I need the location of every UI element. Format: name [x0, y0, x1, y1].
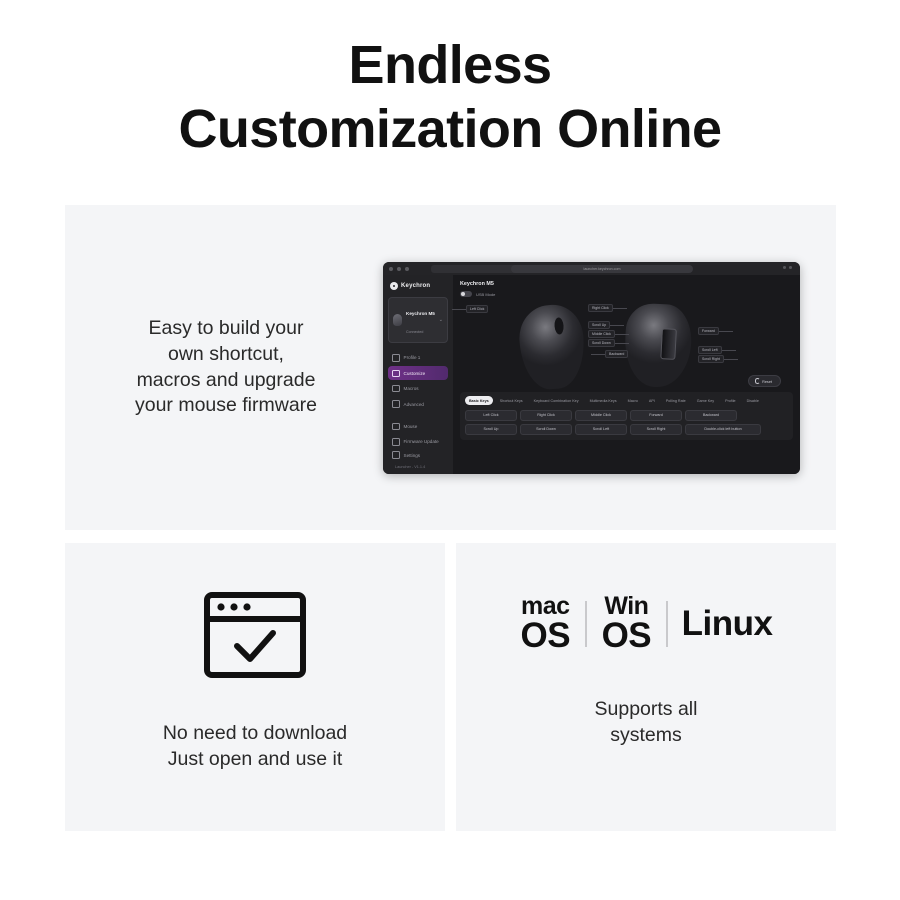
feature-card-customization: Easy to build your own shortcut, macros …: [65, 205, 836, 530]
tab-polling-rate[interactable]: Polling Rate: [662, 396, 690, 405]
sidebar-item-advanced[interactable]: Advanced: [388, 397, 448, 411]
launcher-body: Keychron Keychron M5 Connected ⌄ Profile…: [383, 275, 800, 474]
os-logo-winos-bottom: OS: [602, 619, 652, 652]
sidebar-item-settings[interactable]: Settings: [388, 448, 448, 462]
tab-api[interactable]: API: [645, 396, 659, 405]
device-selector[interactable]: Keychron M5 Connected ⌄: [388, 297, 448, 343]
customize-icon: [392, 370, 400, 378]
sidebar-item-label: Customize: [404, 371, 426, 376]
feature-card-row-bottom: No need to download Just open and use it…: [65, 543, 836, 831]
sidebar-footer: Settings Launcher - V1.1.4: [388, 448, 448, 469]
key-scroll-down[interactable]: Scroll Down: [520, 424, 572, 435]
feature-card-supports-all-systems: mac OS Win OS Linux Supports all systems: [456, 543, 836, 831]
window-minimize-icon[interactable]: [397, 267, 401, 271]
mouse-label-middle-click[interactable]: Middle Click: [588, 330, 615, 338]
customization-copy: Easy to build your own shortcut, macros …: [65, 316, 385, 419]
tab-multimedia-keys[interactable]: Multimedia Keys: [586, 396, 621, 405]
key-scroll-right[interactable]: Scroll Right: [630, 424, 682, 435]
key-backward[interactable]: Backward: [685, 410, 737, 421]
sidebar-item-mouse[interactable]: Mouse: [388, 420, 448, 434]
sidebar-item-profile[interactable]: Profile 1: [388, 351, 448, 365]
mouse-label-backward[interactable]: Backward: [605, 350, 628, 358]
key-middle-click[interactable]: Middle Click: [575, 410, 627, 421]
window-close-icon[interactable]: [389, 267, 393, 271]
browser-url-bar[interactable]: launcher.keychron.com: [511, 265, 693, 273]
sidebar-divider-gap: [388, 413, 448, 420]
supports-all-systems-caption: Supports all systems: [595, 696, 698, 748]
connection-toggle[interactable]: [460, 291, 472, 297]
reset-icon: [755, 378, 761, 384]
device-status: Connected: [406, 330, 423, 334]
os-logo-winos: Win OS: [587, 595, 667, 652]
os-logo-row: mac OS Win OS Linux: [506, 595, 787, 652]
tab-keyboard-combination-key[interactable]: Keyboard Combination Key: [530, 396, 583, 405]
page-title-line-1: Endless: [0, 34, 900, 98]
tab-disable[interactable]: Disable: [743, 396, 763, 405]
launcher-sidebar: Keychron Keychron M5 Connected ⌄ Profile…: [383, 275, 453, 474]
gear-icon: [392, 451, 400, 459]
brand-name: Keychron: [401, 283, 430, 289]
profile-icon: [392, 354, 400, 362]
sidebar-item-macros[interactable]: Macros: [388, 382, 448, 396]
sidebar-item-firmware-update[interactable]: Firmware Update: [388, 435, 448, 449]
chevron-down-icon[interactable]: ⌄: [439, 317, 443, 323]
feature-card-no-download: No need to download Just open and use it: [65, 543, 445, 831]
key-assignment-panel: Basic Keys Shortcut Keys Keyboard Combin…: [460, 392, 793, 440]
os-logo-linux: Linux: [668, 604, 787, 644]
key-right-click[interactable]: Right Click: [520, 410, 572, 421]
mouse-label-scroll-right[interactable]: Scroll Right: [698, 355, 724, 363]
mouse-render-side: [623, 303, 693, 389]
sidebar-item-label: Settings: [404, 453, 421, 458]
key-scroll-up[interactable]: Scroll Up: [465, 424, 517, 435]
browser-window-check-icon: [203, 591, 307, 684]
mouse-label-right-click[interactable]: Right Click: [588, 304, 613, 312]
tab-profile[interactable]: Profile: [721, 396, 739, 405]
key-button-grid: Left Click Right Click Middle Click Forw…: [465, 410, 788, 435]
advanced-icon: [392, 400, 400, 408]
tab-game-key[interactable]: Game Key: [693, 396, 718, 405]
sidebar-item-label: Macros: [404, 386, 419, 391]
mouse-label-left-click[interactable]: Left Click: [466, 305, 488, 313]
reset-button[interactable]: Reset: [748, 375, 781, 387]
no-download-caption: No need to download Just open and use it: [163, 720, 347, 772]
no-download-caption-line-1: No need to download: [163, 720, 347, 746]
os-logo-macos-bottom: OS: [521, 619, 571, 652]
tab-basic-keys[interactable]: Basic Keys: [465, 396, 493, 405]
mouse-label-scroll-up[interactable]: Scroll Up: [588, 321, 610, 329]
main-device-title: Keychron M5: [460, 281, 793, 287]
sidebar-item-label: Mouse: [404, 424, 418, 429]
mouse-icon: [392, 423, 400, 431]
window-maximize-icon[interactable]: [405, 267, 409, 271]
mouse-render-front: [517, 303, 587, 391]
supports-caption-line-1: Supports all: [595, 696, 698, 722]
macros-icon: [392, 385, 400, 393]
connection-row: USB Mode: [460, 291, 793, 297]
sidebar-item-customize[interactable]: Customize: [388, 366, 448, 380]
supports-caption-line-2: systems: [595, 722, 698, 748]
tab-macro[interactable]: Macro: [624, 396, 642, 405]
customization-copy-line-4: your mouse firmware: [67, 393, 385, 419]
page-title-line-2: Customization Online: [0, 98, 900, 162]
mouse-label-forward[interactable]: Forward: [698, 327, 719, 335]
tab-shortcut-keys[interactable]: Shortcut Keys: [496, 396, 527, 405]
customization-copy-line-2: own shortcut,: [67, 342, 385, 368]
feature-card-grid: Easy to build your own shortcut, macros …: [65, 205, 836, 831]
key-forward[interactable]: Forward: [630, 410, 682, 421]
keychron-logo-icon: [390, 282, 398, 290]
key-left-click[interactable]: Left Click: [465, 410, 517, 421]
mouse-diagram: Left Click Right Click Scroll Up Middle …: [460, 301, 793, 389]
sidebar-item-label: Firmware Update: [404, 439, 439, 444]
brand-logo: Keychron: [388, 282, 448, 290]
launcher-app-screenshot: launcher.keychron.com Keychron Keychron …: [383, 262, 800, 474]
reset-label: Reset: [762, 380, 772, 384]
device-name: Keychron M5: [406, 311, 435, 316]
sidebar-item-label: Advanced: [404, 402, 424, 407]
customization-copy-line-1: Easy to build your: [67, 316, 385, 342]
connection-label: USB Mode: [476, 292, 495, 297]
browser-window-controls[interactable]: [783, 266, 792, 269]
no-download-caption-line-2: Just open and use it: [163, 746, 347, 772]
launcher-version: Launcher - V1.1.4: [388, 465, 448, 469]
key-category-tabs: Basic Keys Shortcut Keys Keyboard Combin…: [465, 396, 788, 405]
customization-copy-line-3: macros and upgrade: [67, 368, 385, 394]
sidebar-item-label: Profile 1: [404, 355, 421, 360]
page-title: Endless Customization Online: [0, 0, 900, 161]
launcher-main: Keychron M5 USB Mode Left Click Right Cl…: [453, 275, 800, 474]
mouse-label-scroll-down[interactable]: Scroll Down: [588, 339, 615, 347]
os-logo-macos: mac OS: [506, 595, 586, 652]
mouse-label-scroll-left[interactable]: Scroll Left: [698, 346, 722, 354]
key-double-click-left-button[interactable]: Double-click left button: [685, 424, 761, 435]
browser-titlebar: launcher.keychron.com: [383, 262, 800, 275]
firmware-icon: [392, 438, 400, 446]
device-meta: Keychron M5 Connected: [406, 302, 435, 338]
key-scroll-left[interactable]: Scroll Left: [575, 424, 627, 435]
mouse-device-icon: [393, 314, 402, 326]
